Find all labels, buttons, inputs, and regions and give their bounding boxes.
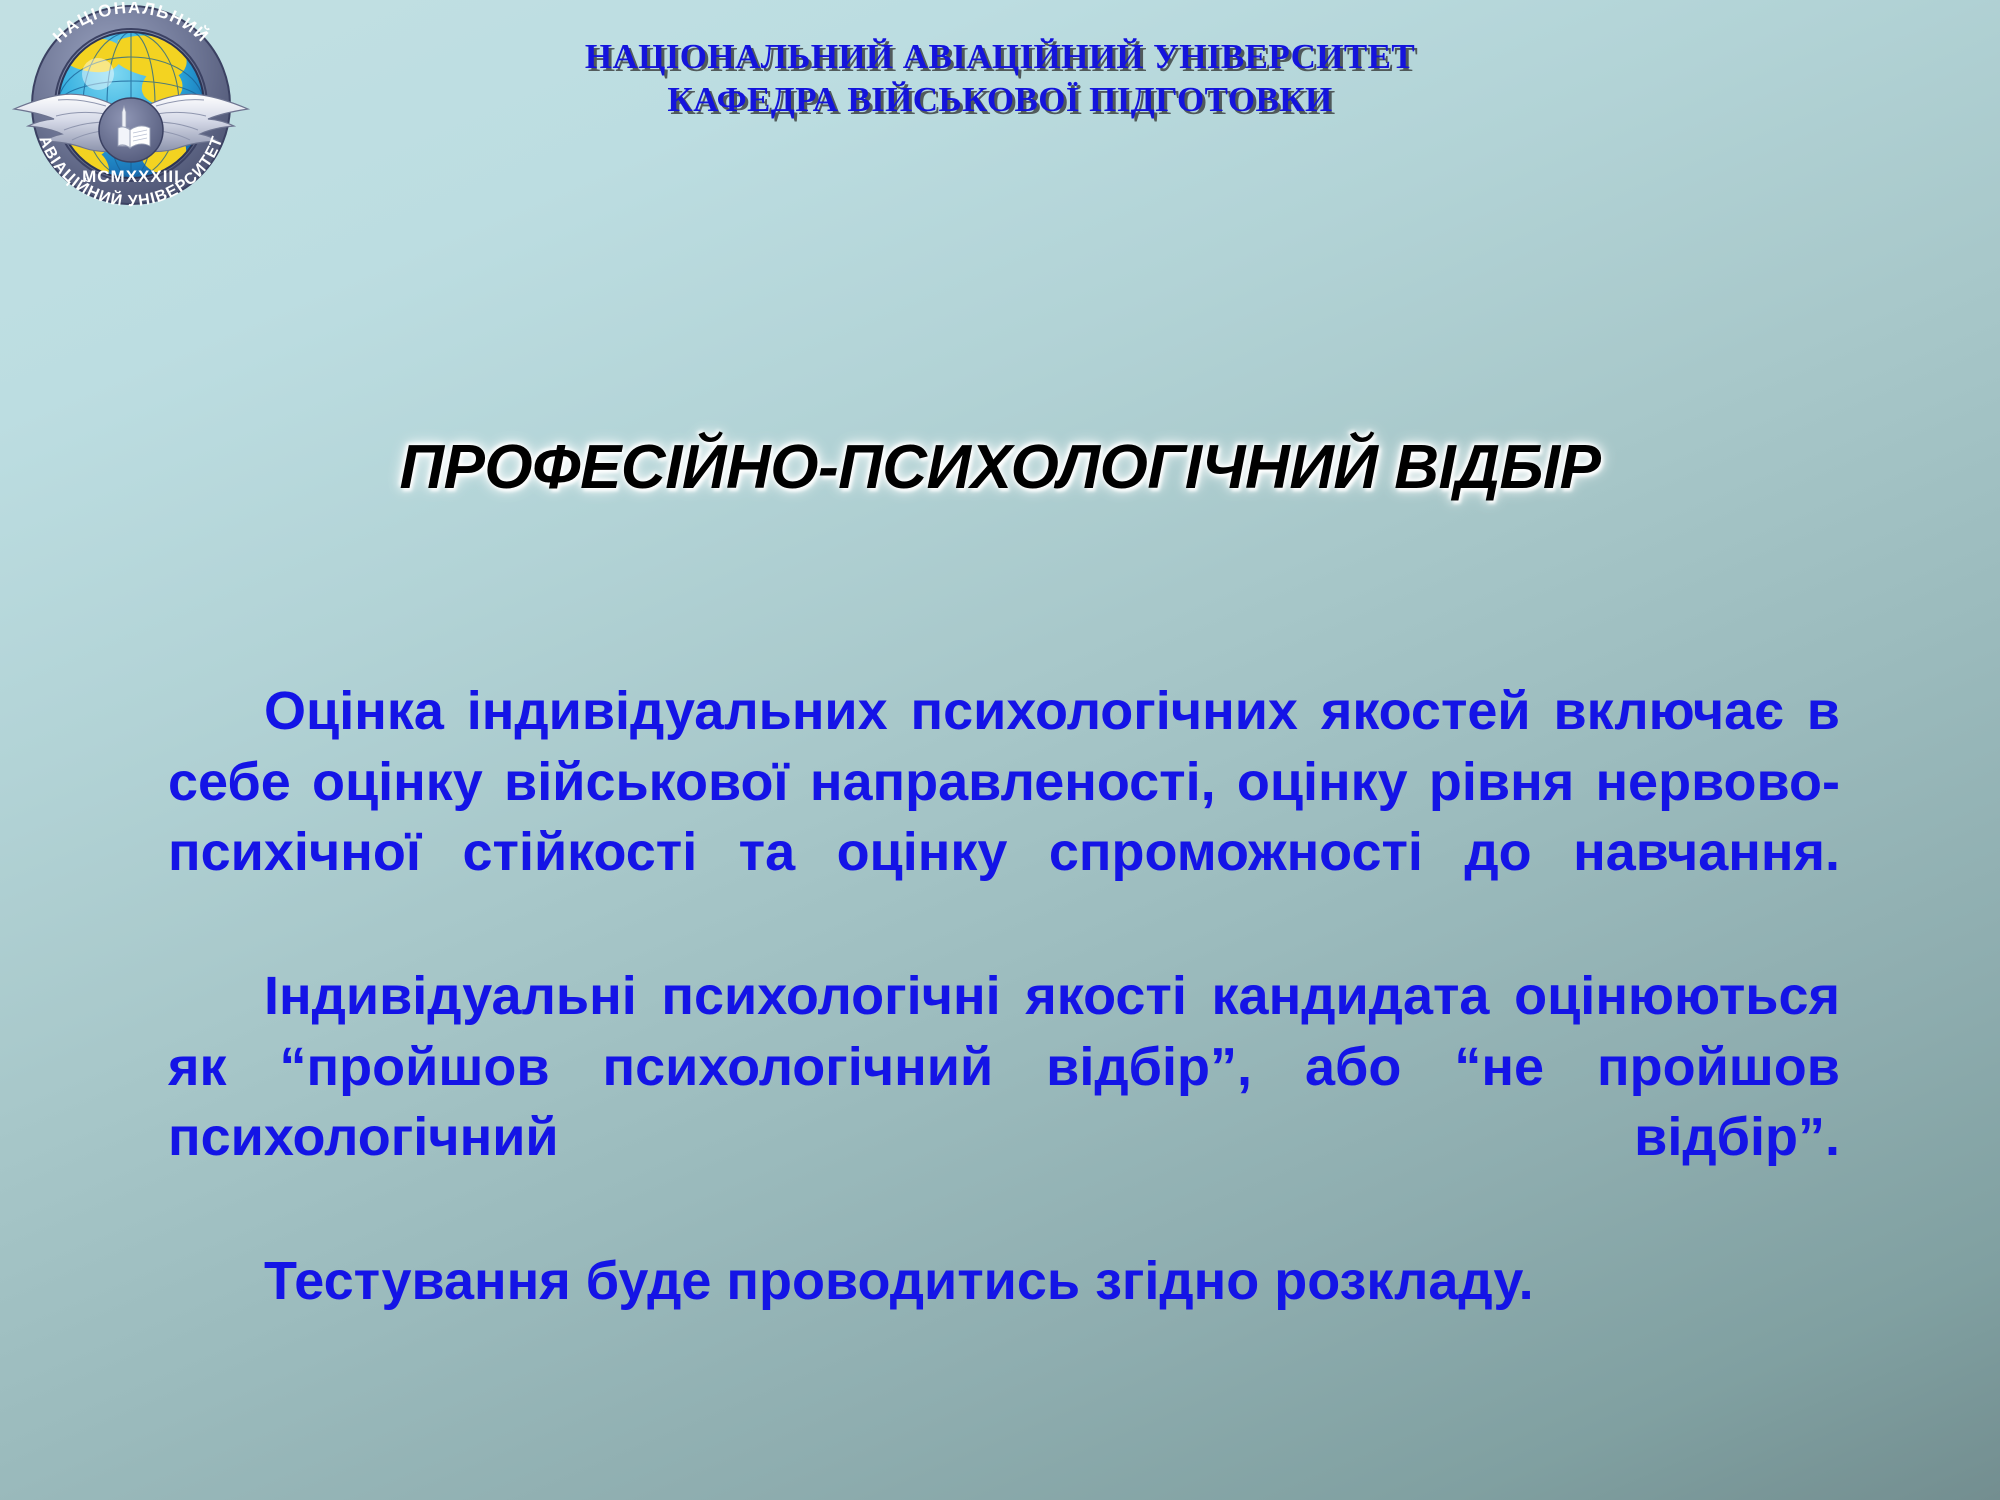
body-paragraph-1-text: Оцінка індивідуальних психологічних якос… bbox=[168, 681, 1840, 882]
body-paragraph-3-text: Тестування буде проводитись згідно розкл… bbox=[264, 1251, 1534, 1311]
page-title-text: ПРОФЕСІЙНО-ПСИХОЛОГІЧНИЙ ВІДБІР bbox=[399, 432, 1600, 503]
slide-header: НАЦІОНАЛЬНИЙ АВІАЦІЙНИЙ УНІВЕРСИТЕТ КАФЕ… bbox=[300, 36, 1700, 121]
body-paragraph-2: Індивідуальні психологічні якості кандид… bbox=[168, 961, 1840, 1244]
logo-year-text: MCMXXXIII bbox=[82, 167, 180, 186]
body-paragraph-3: Тестування буде проводитись згідно розкл… bbox=[168, 1246, 1840, 1317]
slide: НАЦІОНАЛЬНИЙ АВІАЦІЙНИЙ УНІВЕРСИТЕТ MCMX… bbox=[0, 0, 2000, 1500]
university-logo: НАЦІОНАЛЬНИЙ АВІАЦІЙНИЙ УНІВЕРСИТЕТ MCMX… bbox=[6, 2, 256, 214]
header-line-university: НАЦІОНАЛЬНИЙ АВІАЦІЙНИЙ УНІВЕРСИТЕТ bbox=[300, 36, 1700, 79]
nau-emblem-icon: НАЦІОНАЛЬНИЙ АВІАЦІЙНИЙ УНІВЕРСИТЕТ MCMX… bbox=[6, 2, 256, 214]
header-line-department: КАФЕДРА ВІЙСЬКОВОЇ ПІДГОТОВКИ bbox=[300, 79, 1700, 122]
body-paragraph-1: Оцінка індивідуальних психологічних якос… bbox=[168, 676, 1840, 959]
page-title: ПРОФЕСІЙНО-ПСИХОЛОГІЧНИЙ ВІДБІР bbox=[0, 432, 2000, 503]
slide-body: Оцінка індивідуальних психологічних якос… bbox=[168, 676, 1840, 1317]
body-paragraph-2-text: Індивідуальні психологічні якості кандид… bbox=[168, 966, 1840, 1167]
